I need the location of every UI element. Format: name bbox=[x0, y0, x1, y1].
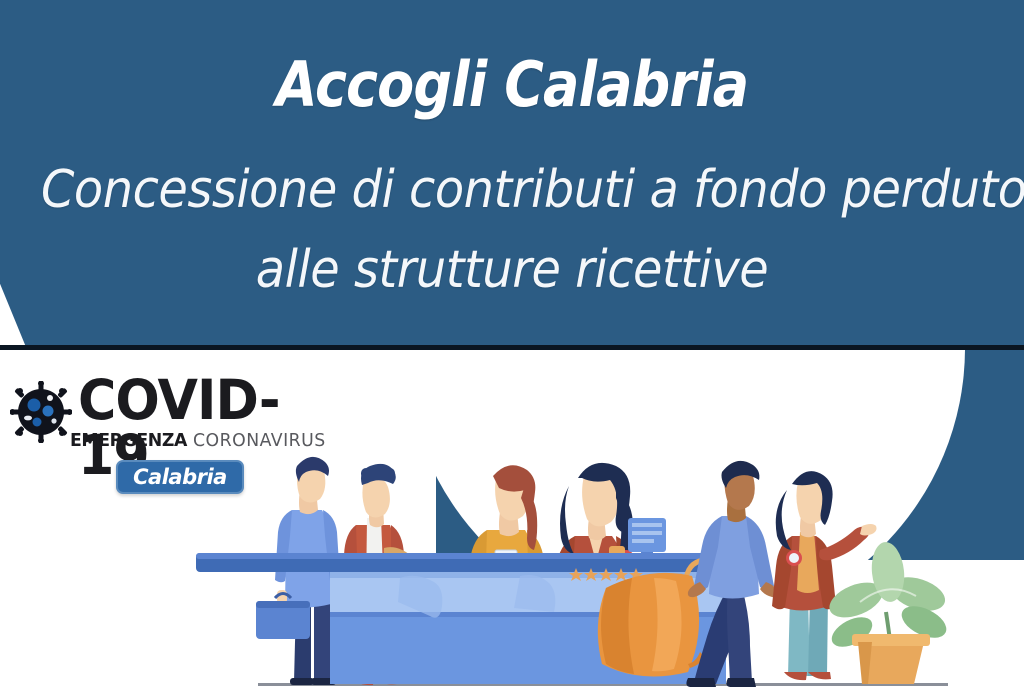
header-corner-wedge bbox=[0, 262, 28, 348]
logo-subtitle: EMERGENZA CORONAVIRUS bbox=[70, 431, 326, 451]
subtitle-line-2: alle strutture ricettive bbox=[41, 230, 983, 310]
poster-root: Accogli Calabria Concessione di contribu… bbox=[0, 0, 1024, 698]
logo-coronavirus-label: CORONAVIRUS bbox=[193, 430, 326, 451]
page-subtitle: Concessione di contributi a fondo perdut… bbox=[41, 150, 983, 310]
region-badge-label: Calabria bbox=[133, 465, 227, 489]
coronavirus-virus-icon bbox=[10, 381, 72, 443]
covid19-logo: COVID-19 EMERGENZA CORONAVIRUS Calabria bbox=[8, 365, 308, 495]
page-title: Accogli Calabria bbox=[67, 48, 958, 121]
logo-emergenza-label: EMERGENZA bbox=[70, 430, 187, 451]
subtitle-line-1: Concessione di contributi a fondo perdut… bbox=[41, 150, 983, 230]
region-badge-calabria: Calabria bbox=[116, 460, 244, 494]
white-circle-right bbox=[405, 350, 965, 628]
header-banner: Accogli Calabria Concessione di contribu… bbox=[0, 0, 1024, 348]
lower-panel: COVID-19 EMERGENZA CORONAVIRUS Calabria bbox=[0, 350, 1024, 698]
